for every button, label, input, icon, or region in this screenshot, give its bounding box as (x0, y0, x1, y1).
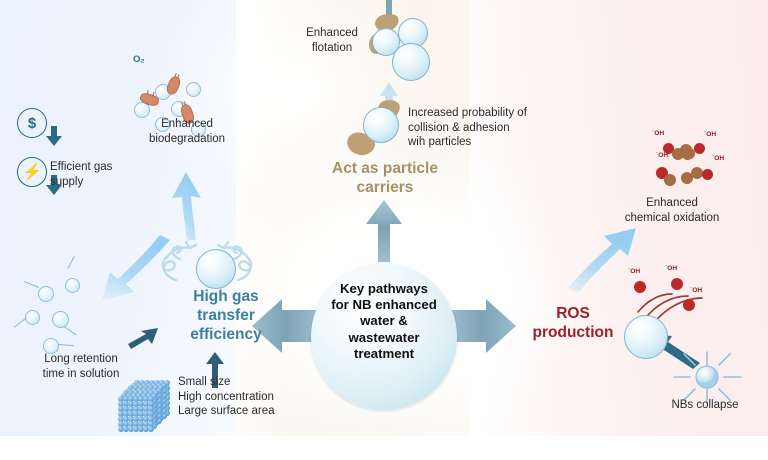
nanobubble-small (52, 311, 69, 328)
nanobubble-small (186, 82, 201, 97)
note-nbs-collapse: NBs collapse (640, 398, 768, 413)
radical-label: ˙OH (628, 268, 640, 276)
radical-dot (694, 143, 705, 154)
radical-dot (671, 278, 683, 290)
organic-fragment (664, 174, 676, 186)
branch-heading-ros-production: ROS production (527, 305, 619, 343)
nbs-collapse-bubble (696, 366, 718, 388)
branch-heading-particle-carriers: Act as particle carriers (320, 160, 450, 198)
arrow-retention-to-heading (128, 328, 158, 349)
note-efficient-gas-supply: Efficient gas supply (50, 160, 146, 189)
radical-label: ˙OH (665, 265, 677, 273)
radical-label: ˙OH (704, 131, 716, 139)
nanobubble-small (38, 286, 54, 302)
note-small-size-concentration: Small size High concentration Large surf… (178, 375, 313, 419)
nanobubble-large-left (196, 249, 236, 289)
lattice-sphere (148, 426, 154, 432)
radical-dot (683, 299, 695, 311)
soft-arrow-gas-supply (102, 235, 170, 300)
radical-label: ˙OH (652, 130, 664, 138)
note-long-retention-time: Long retention time in solution (16, 352, 146, 381)
note-enhanced-biodegradation: Enhanced biodegradation (126, 117, 248, 146)
radical-label: ˙OH (656, 152, 668, 160)
note-enhanced-flotation: Enhanced flotation (289, 26, 375, 55)
nanobubble-small (65, 278, 80, 293)
radical-dot (634, 281, 646, 293)
radical-label: ˙OH (712, 155, 724, 163)
radical-dot (702, 169, 713, 180)
soft-arrow-biodegradation (172, 172, 201, 241)
nanobubble-ros (624, 315, 668, 359)
central-hub-label: Key pathways for NB enhanced water & was… (318, 281, 450, 362)
soft-arrow-chemical-oxidation (568, 228, 636, 293)
diagram-canvas: Key pathways for NB enhanced water & was… (0, 0, 768, 436)
organic-fragment (682, 149, 693, 160)
dollar-icon: $ (17, 108, 47, 138)
arrow-to-top-branch (366, 200, 402, 262)
note-enhanced-chemical-oxidation: Enhanced chemical oxidation (600, 196, 744, 225)
branch-heading-high-gas-transfer: High gas transfer efficiency (165, 288, 287, 345)
o2-label: O₂ (133, 54, 145, 66)
nanobubble-carrier (363, 107, 399, 143)
radical-label: ˙OH (690, 287, 702, 295)
nanobubble-small (25, 310, 40, 325)
arrow-to-right-branch (448, 299, 516, 353)
note-collision-adhesion: Increased probability of collision & adh… (408, 106, 568, 150)
lightning-icon: ⚡ (17, 157, 47, 187)
nanobubble-flotation (392, 43, 430, 81)
dollar-down-arrow-icon (45, 126, 63, 148)
lattice-cube-icon-body (118, 380, 174, 430)
